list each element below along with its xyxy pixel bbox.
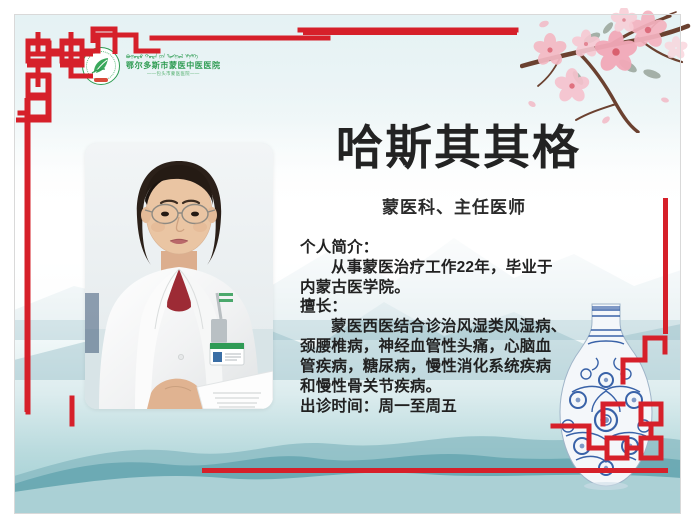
bio-specialty-line4: 和慢性骨关节疾病。 [300, 377, 620, 397]
bio-clinic-hours: 出诊时间：周一至周五 [300, 397, 620, 417]
bio-specialty-line3: 管疾病，糖尿病，慢性消化系统疾病 [300, 357, 620, 377]
hospital-leaf-emblem-icon [82, 47, 120, 85]
bio-specialty-line1: 蒙医西医结合诊治风湿类风湿病、 [300, 317, 620, 337]
doctor-portrait [85, 143, 273, 409]
logo-subtitle: ——包头市蒙医医院—— [126, 72, 221, 76]
cherry-blossom-branch-icon [520, 8, 695, 133]
bio-intro-label: 个人简介： [300, 238, 620, 258]
poster-canvas: ᠪᠤᠭᠤᠲᠤ ᠬᠣᠲᠠ ᠶᠢᠨ ᠮᠣᠩᠭᠣᠯ ᠡᠮᠨᠡᠯᠭᠡ 鄂尔多斯市蒙医中医… [0, 0, 695, 528]
logo-mongolian-script: ᠪᠤᠭᠤᠲᠤ ᠬᠣᠲᠠ ᠶᠢᠨ ᠮᠣᠩᠭᠣᠯ ᠡᠮᠨᠡᠯᠭᠡ [126, 55, 221, 60]
doctor-bio-block: 个人简介： 从事蒙医治疗工作22年，毕业于 内蒙古医学院。 擅长： 蒙医西医结合… [300, 238, 620, 416]
bio-intro-line2: 内蒙古医学院。 [300, 278, 620, 298]
doctor-role: 蒙医科、主任医师 [382, 193, 526, 218]
bio-specialty-label: 擅长： [300, 297, 620, 317]
doctor-name: 哈斯其其格 [336, 124, 581, 171]
bio-specialty-line2: 颈腰椎病，神经血管性头痛，心脑血 [300, 337, 620, 357]
bio-intro-line1: 从事蒙医治疗工作22年，毕业于 [300, 258, 620, 278]
hospital-logo: ᠪᠤᠭᠤᠲᠤ ᠬᠣᠲᠠ ᠶᠢᠨ ᠮᠣᠩᠭᠣᠯ ᠡᠮᠨᠡᠯᠭᠡ 鄂尔多斯市蒙医中医… [82, 47, 221, 85]
logo-hospital-name: 鄂尔多斯市蒙医中医医院 [126, 62, 221, 70]
